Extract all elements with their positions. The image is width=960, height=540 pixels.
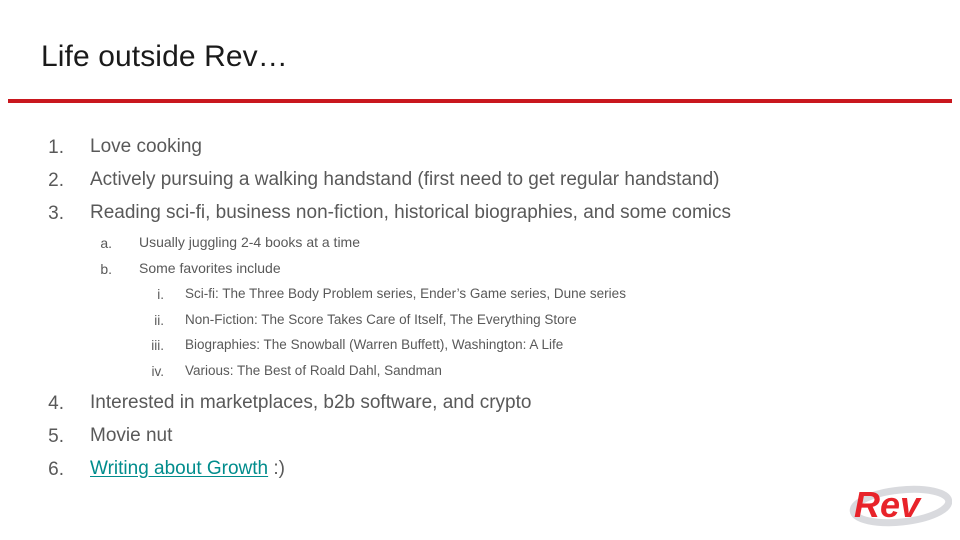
list-item-text: Some favorites include (139, 256, 960, 278)
list-item-text: Biographies: The Snowball (Warren Buffet… (185, 333, 960, 354)
list-item: iii. Biographies: The Snowball (Warren B… (0, 333, 960, 359)
list-item: i. Sci-fi: The Three Body Problem series… (0, 282, 960, 308)
list-item: a. Usually juggling 2-4 books at a time (0, 230, 960, 256)
rev-logo: Rev (846, 481, 952, 529)
list-item-text: Reading sci-fi, business non-fiction, hi… (90, 197, 960, 226)
list-marker: i. (126, 285, 164, 304)
list-marker: 3. (32, 201, 64, 227)
list-item-text: Movie nut (90, 420, 960, 449)
list-item-text: Actively pursuing a walking handstand (f… (90, 164, 960, 193)
rev-wordmark: Rev (854, 484, 922, 525)
list-marker: ii. (126, 311, 164, 330)
list-marker: 1. (32, 135, 64, 161)
list-item: b. Some favorites include (0, 256, 960, 282)
list-marker: 5. (32, 424, 64, 450)
list-marker: iii. (126, 336, 164, 355)
list-item: iv. Various: The Best of Roald Dahl, San… (0, 359, 960, 385)
list-item: ii. Non-Fiction: The Score Takes Care of… (0, 308, 960, 334)
list-item: 4. Interested in marketplaces, b2b softw… (0, 387, 960, 420)
content-list: 1. Love cooking 2. Actively pursuing a w… (0, 131, 960, 486)
list-item: 5. Movie nut (0, 420, 960, 453)
smiley-suffix: :) (268, 458, 285, 479)
list-item-text: Various: The Best of Roald Dahl, Sandman (185, 359, 960, 380)
list-item-text: Love cooking (90, 131, 960, 160)
list-item-text: Sci-fi: The Three Body Problem series, E… (185, 282, 960, 303)
list-marker: iv. (126, 362, 164, 381)
writing-about-growth-link[interactable]: Writing about Growth (90, 458, 268, 479)
list-marker: 4. (32, 391, 64, 417)
list-marker: a. (84, 233, 112, 253)
list-item: 6. Writing about Growth :) (0, 453, 960, 486)
list-marker: b. (84, 259, 112, 279)
title-divider-rule (8, 99, 952, 103)
page-title: Life outside Rev… (41, 38, 288, 76)
slide-canvas: Life outside Rev… 1. Love cooking 2. Act… (0, 0, 960, 540)
list-marker: 2. (32, 168, 64, 194)
list-item: 1. Love cooking (0, 131, 960, 164)
list-item-text: Interested in marketplaces, b2b software… (90, 387, 960, 416)
list-item-text: Writing about Growth :) (90, 453, 960, 482)
list-item: 3. Reading sci-fi, business non-fiction,… (0, 197, 960, 230)
list-item-text: Usually juggling 2-4 books at a time (139, 230, 960, 252)
list-item: 2. Actively pursuing a walking handstand… (0, 164, 960, 197)
list-item-text: Non-Fiction: The Score Takes Care of Its… (185, 308, 960, 329)
list-marker: 6. (32, 457, 64, 483)
